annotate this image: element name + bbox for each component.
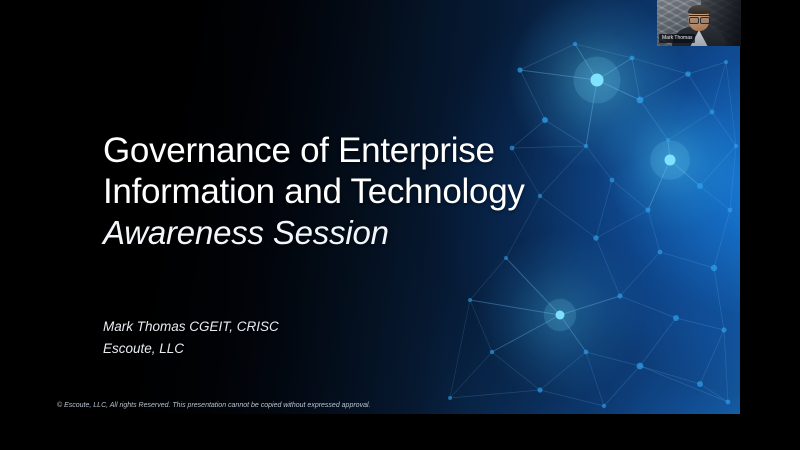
webcam-thumbnail[interactable]: Mark Thomas <box>657 0 741 46</box>
presentation-slide: Governance of Enterprise Information and… <box>0 0 740 414</box>
slide-subtitle: Awareness Session <box>103 212 663 254</box>
copyright-notice: © Escoute, LLC, All rights Reserved. Thi… <box>57 401 370 411</box>
participant-hair <box>688 5 711 14</box>
webcam-name-label: Mark Thomas <box>659 34 695 43</box>
slide-title-block: Governance of Enterprise Information and… <box>103 130 663 254</box>
slide-title-line-1: Governance of Enterprise <box>103 130 663 171</box>
presenter-organization: Escoute, LLC <box>103 338 279 360</box>
presenter-name: Mark Thomas CGEIT, CRISC <box>103 316 279 338</box>
glasses-icon <box>689 15 710 22</box>
participant-head <box>689 6 710 31</box>
screen-recording-frame: Governance of Enterprise Information and… <box>0 0 800 450</box>
slide-title-line-2: Information and Technology <box>103 171 663 212</box>
presenter-block: Mark Thomas CGEIT, CRISC Escoute, LLC <box>103 316 279 360</box>
